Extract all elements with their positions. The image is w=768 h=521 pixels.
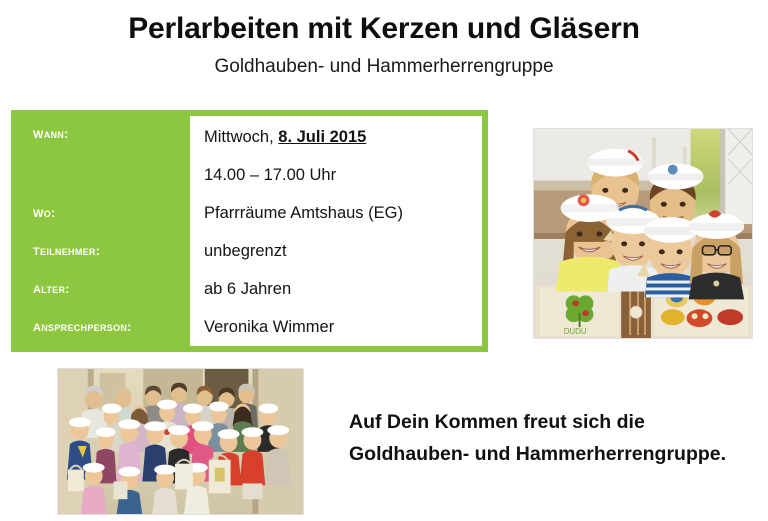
event-info-box: Wann: Wo: Teilnehmer: Alter: Ansprechper…	[11, 110, 488, 352]
closing-line-1: Auf Dein Kommen freut sich die	[349, 406, 764, 438]
page-title: Perlarbeiten mit Kerzen und Gläsern	[0, 12, 768, 46]
photo-children-caps: DUDU	[533, 128, 753, 339]
info-label-teilnehmer: Teilnehmer:	[33, 242, 100, 260]
info-label-column: Wann: Wo: Teilnehmer: Alter: Ansprechper…	[11, 110, 190, 352]
page-subtitle: Goldhauben- und Hammerherrengruppe	[0, 56, 768, 78]
svg-text:DUDU: DUDU	[564, 327, 587, 336]
info-value-location: Pfarrräume Amtshaus (EG)	[204, 204, 403, 223]
info-value-date-emphasis: 8. Juli 2015	[278, 128, 366, 146]
info-label-wann: Wann:	[33, 125, 69, 143]
photo-group-image	[58, 369, 303, 514]
info-label-wo: Wo:	[33, 204, 55, 222]
closing-message: Auf Dein Kommen freut sich die Goldhaube…	[349, 406, 764, 470]
info-value-age: ab 6 Jahren	[204, 280, 291, 299]
info-label-ansprechperson: Ansprechperson:	[33, 318, 132, 336]
info-value-date-prefix: Mittwoch,	[204, 128, 278, 146]
info-value-date: Mittwoch, 8. Juli 2015	[204, 128, 366, 147]
info-value-participants: unbegrenzt	[204, 242, 287, 261]
info-value-time: 14.00 – 17.00 Uhr	[204, 166, 336, 185]
photo-group	[57, 368, 304, 515]
info-label-alter: Alter:	[33, 280, 70, 298]
info-value-contact: Veronika Wimmer	[204, 318, 334, 337]
info-value-column: Mittwoch, 8. Juli 2015 14.00 – 17.00 Uhr…	[190, 116, 482, 346]
photo-children-caps-image: DUDU	[534, 129, 752, 338]
closing-line-2: Goldhauben- und Hammerherrengruppe.	[349, 438, 764, 470]
